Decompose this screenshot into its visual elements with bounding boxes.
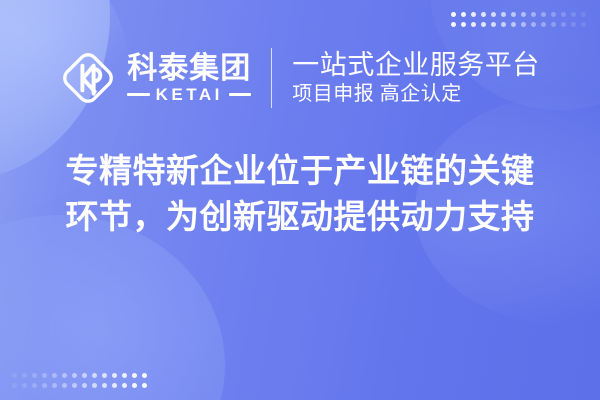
decorative-dot	[22, 383, 27, 388]
decorative-dot	[32, 373, 37, 378]
decorative-dot	[531, 22, 536, 27]
decorative-dot	[521, 12, 526, 17]
decorative-dot	[501, 12, 506, 17]
decorative-dot	[581, 12, 586, 17]
decorative-dot	[511, 12, 516, 17]
decorative-dot	[491, 12, 496, 17]
decorative-dot	[22, 373, 27, 378]
decorative-dot	[541, 22, 546, 27]
decorative-dot	[561, 22, 566, 27]
decorative-dot	[92, 373, 97, 378]
tagline-primary: 一站式企业服务平台	[292, 51, 540, 81]
decorative-dot	[132, 383, 137, 388]
decorative-dot	[471, 12, 476, 17]
decorative-dot	[52, 383, 57, 388]
decorative-dot	[102, 383, 107, 388]
banner-header: 科泰集团 KETAI 一站式企业服务平台 项目申报 高企认定	[0, 44, 600, 112]
decorative-dot	[122, 373, 127, 378]
dot-grid-bottom-left	[12, 373, 147, 388]
brand-rule-right	[229, 93, 251, 96]
brand-latin-row: KETAI	[127, 86, 251, 103]
decorative-dot	[42, 373, 47, 378]
decorative-dot	[142, 383, 147, 388]
decorative-dot	[471, 22, 476, 27]
brand-rule-left	[127, 93, 149, 96]
ketai-kp-diamond-icon	[60, 50, 116, 106]
decorative-dot	[581, 22, 586, 27]
decorative-dot	[521, 22, 526, 27]
headline: 专精特新企业位于产业链的关键 环节，为创新驱动提供动力支持	[0, 148, 600, 240]
decorative-dot	[551, 12, 556, 17]
decorative-dot	[461, 22, 466, 27]
decorative-dot	[451, 12, 456, 17]
background-blob-bottom-left	[0, 215, 225, 400]
tagline-block: 一站式企业服务平台 项目申报 高企认定	[292, 51, 540, 106]
decorative-dot	[62, 383, 67, 388]
brand-name-latin: KETAI	[156, 86, 223, 103]
decorative-dot	[42, 383, 47, 388]
decorative-dot	[571, 22, 576, 27]
header-divider	[271, 48, 272, 108]
dot-grid-top-right	[451, 12, 586, 27]
decorative-dot	[72, 383, 77, 388]
decorative-dot	[531, 12, 536, 17]
decorative-dot	[12, 373, 17, 378]
decorative-dot	[92, 383, 97, 388]
decorative-dot	[122, 383, 127, 388]
decorative-dot	[112, 383, 117, 388]
dot-row	[451, 22, 586, 27]
decorative-dot	[12, 383, 17, 388]
decorative-dot	[501, 22, 506, 27]
decorative-dot	[461, 12, 466, 17]
decorative-dot	[82, 373, 87, 378]
decorative-dot	[62, 373, 67, 378]
decorative-dot	[112, 373, 117, 378]
decorative-dot	[72, 373, 77, 378]
decorative-dot	[481, 12, 486, 17]
dot-row	[12, 383, 147, 388]
decorative-dot	[32, 383, 37, 388]
decorative-dot	[481, 22, 486, 27]
tagline-secondary: 项目申报 高企认定	[292, 83, 540, 105]
decorative-dot	[541, 12, 546, 17]
headline-line-2: 环节，为创新驱动提供动力支持	[0, 194, 600, 240]
brand-name-cn: 科泰集团	[127, 54, 251, 84]
decorative-dot	[571, 12, 576, 17]
brand-logo: 科泰集团 KETAI	[60, 50, 251, 106]
decorative-dot	[102, 373, 107, 378]
decorative-dot	[82, 383, 87, 388]
decorative-dot	[491, 22, 496, 27]
decorative-dot	[551, 22, 556, 27]
decorative-dot	[451, 22, 456, 27]
decorative-dot	[561, 12, 566, 17]
dot-row	[451, 12, 586, 17]
decorative-dot	[142, 373, 147, 378]
decorative-dot	[52, 373, 57, 378]
decorative-dot	[511, 22, 516, 27]
promo-banner: 科泰集团 KETAI 一站式企业服务平台 项目申报 高企认定 专精特新企业位于产…	[0, 0, 600, 400]
decorative-dot	[132, 373, 137, 378]
brand-wordmark: 科泰集团 KETAI	[127, 54, 251, 103]
headline-line-1: 专精特新企业位于产业链的关键	[0, 148, 600, 194]
dot-row	[12, 373, 147, 378]
